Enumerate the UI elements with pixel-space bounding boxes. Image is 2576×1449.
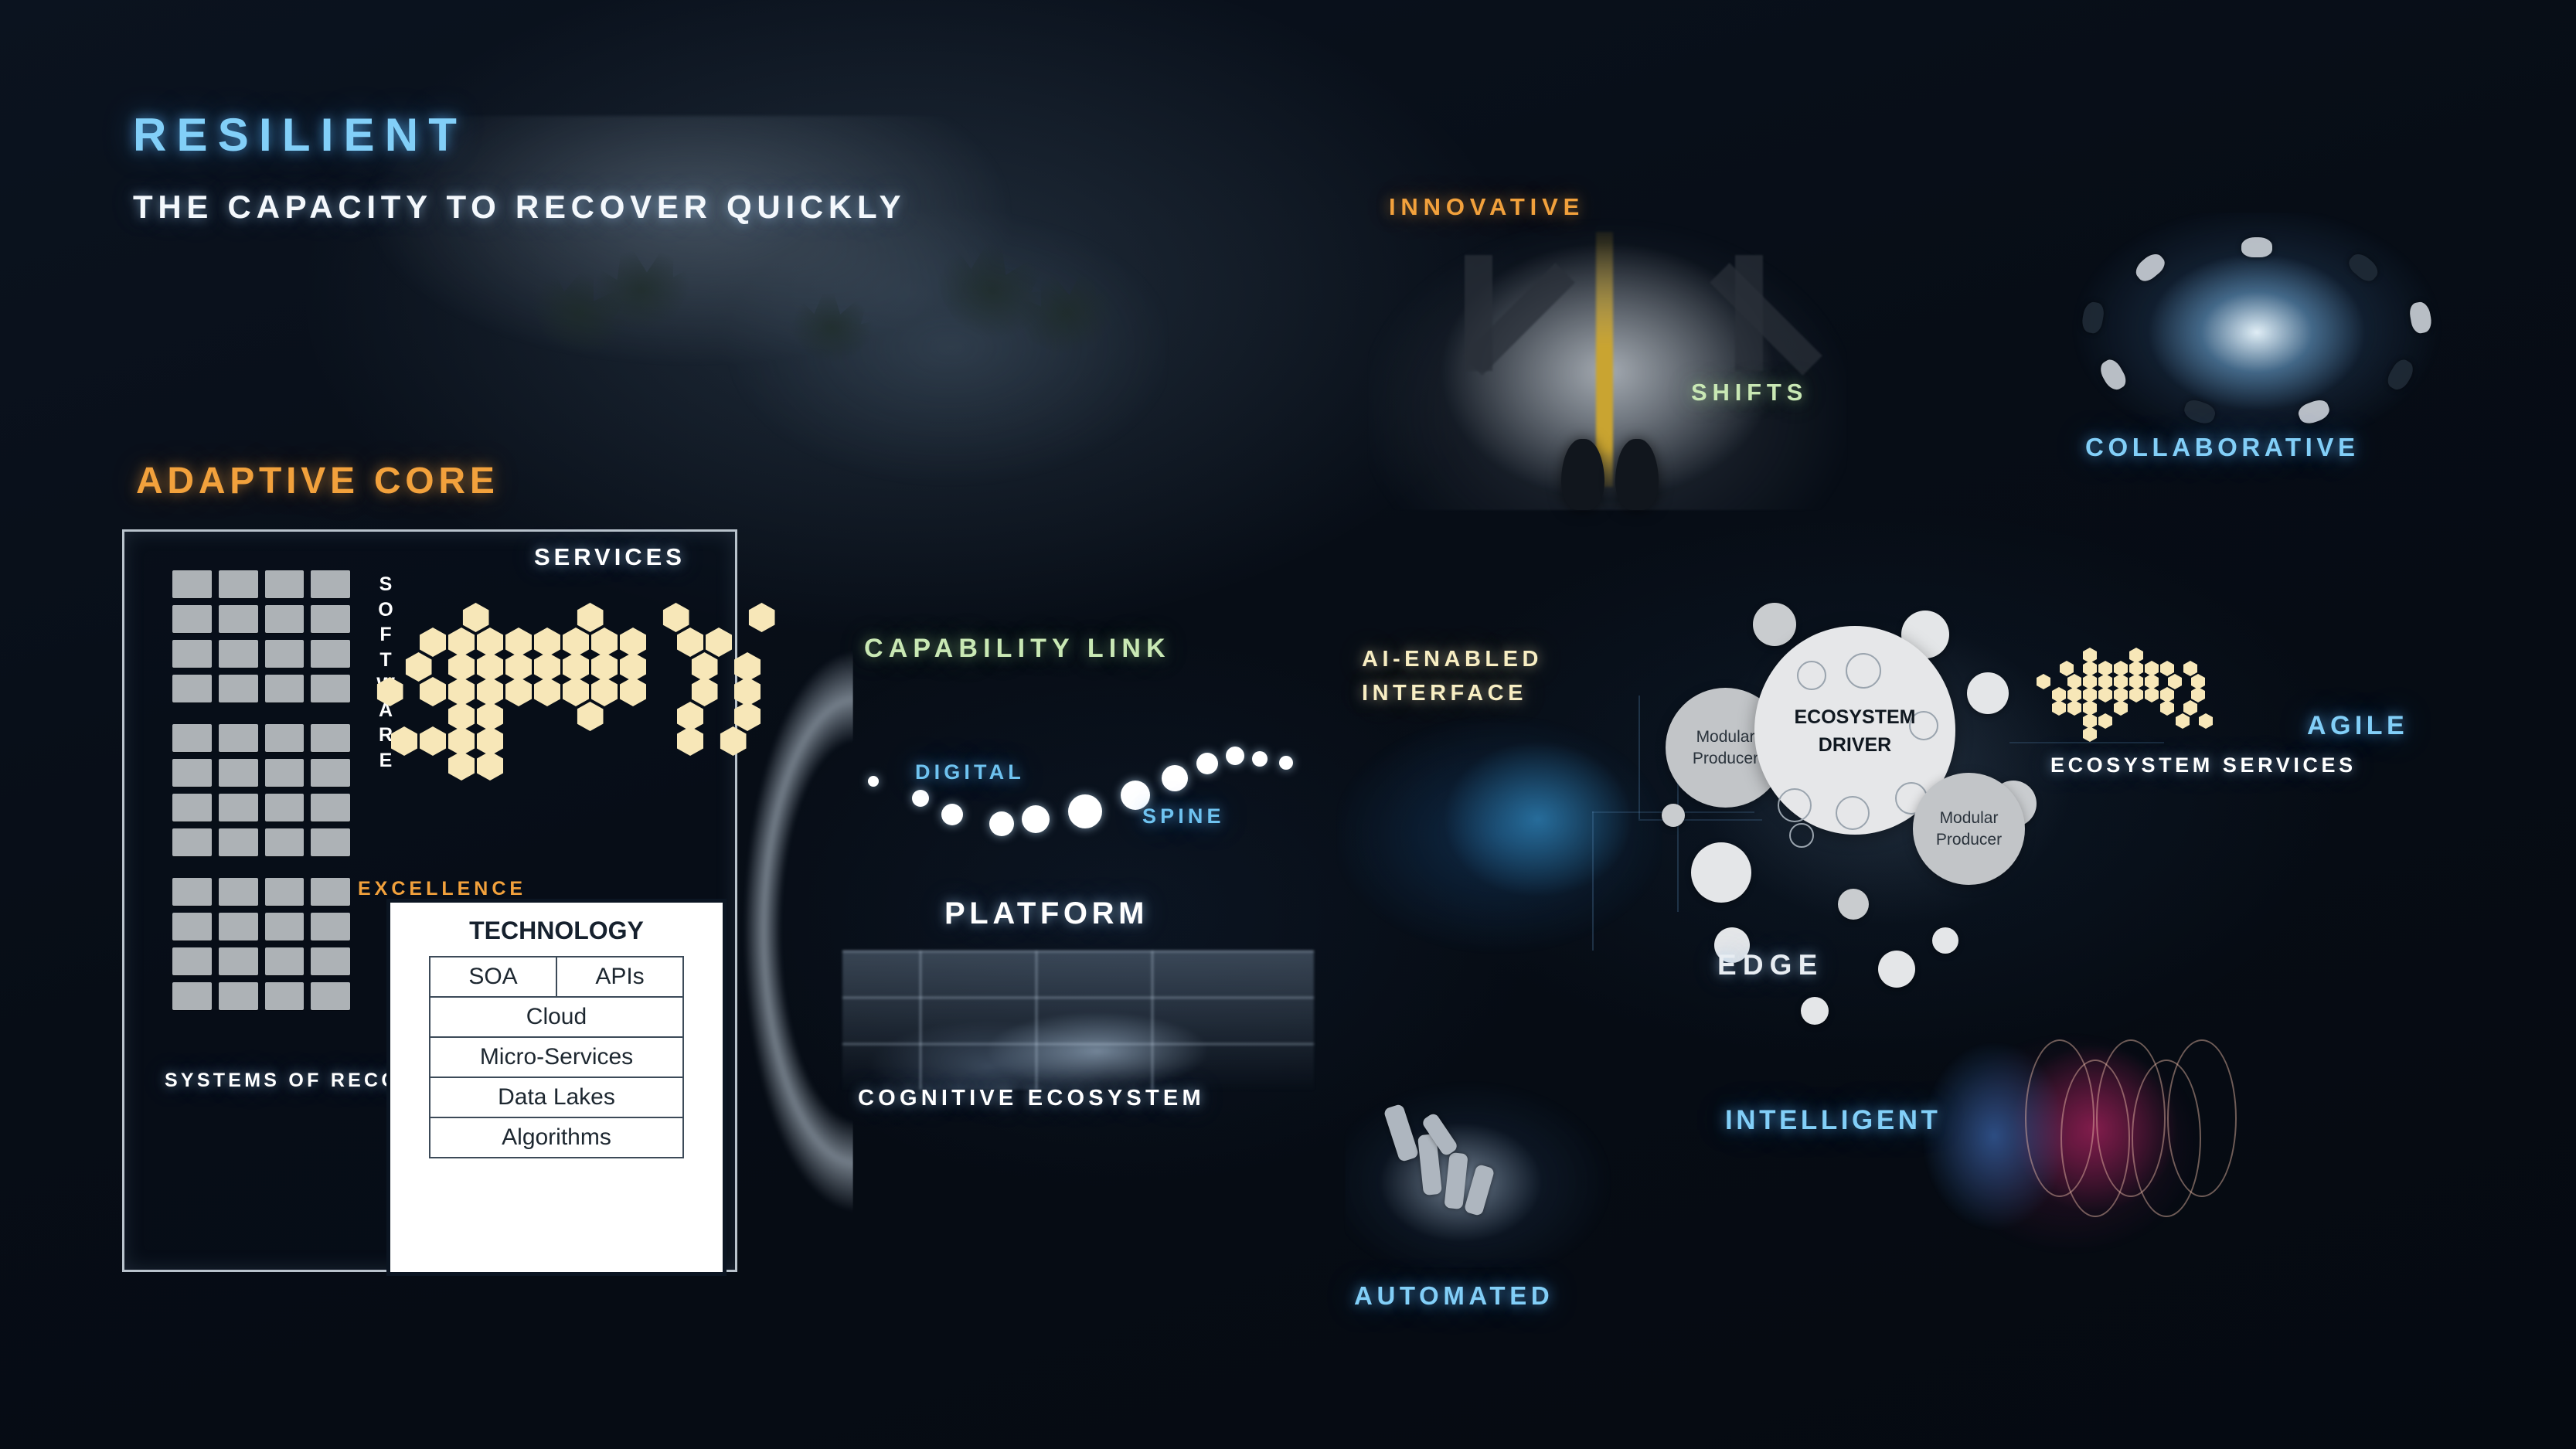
technology-cell[interactable]: SOA [430,957,556,997]
building-block [265,570,305,598]
technology-row: Data Lakes [430,1077,683,1117]
platform-gridline-v [920,951,921,1090]
driver-inner-circle [1778,788,1812,822]
ecosystem-service-hexagon [2183,661,2197,676]
building-block [219,675,258,702]
service-hexagon [692,677,718,706]
floor-arrow [1465,255,1492,371]
building-block [265,675,305,702]
platform-gridline-h [842,1043,1314,1045]
service-hexagon [463,603,489,632]
service-hexagon [534,677,560,706]
service-hexagon [620,677,646,706]
edge-bubble [1878,951,1915,988]
technology-cell[interactable]: APIs [556,957,683,997]
adaptive-core-heading: ADAPTIVE CORE [136,460,499,502]
systems-of-record-label: SYSTEMS OF RECORD [165,1066,358,1094]
building-block [311,947,350,975]
ecosystem-service-hexagon [2183,700,2197,716]
edge-label: EDGE [1717,949,1823,981]
ecosystem-service-hexagon [2160,700,2174,716]
ai-enabled-interface-label: AI-ENABLED INTERFACE [1362,643,1543,710]
driver-inner-circle [1797,661,1826,690]
building-block [265,878,305,906]
ai-label-line1: AI-ENABLED [1362,643,1543,677]
ecosystem-service-hexagon [2199,713,2213,729]
service-hexagon [663,603,689,632]
palm-frond [563,221,720,359]
building-block [219,605,258,633]
spine-dot [941,804,963,825]
building-block [172,794,212,821]
ecosystem-service-hexagon [2129,687,2143,702]
building-block [311,675,350,702]
building-block [311,878,350,906]
palm-frond [898,207,1086,375]
building-block [219,724,258,752]
building-block [219,794,258,821]
building-block [265,724,305,752]
ecosystem-service-hexagon [2145,687,2159,702]
building-block [265,605,305,633]
circuit-trace-h [1638,819,1762,821]
building-block [219,913,258,940]
ecosystem-service-hexagon [2098,687,2112,702]
palm-frond [982,236,1151,389]
building-block [219,640,258,668]
platform-gridline-h [842,951,1314,952]
ecosystem-service-hexagon [2052,700,2066,716]
building-block [265,759,305,787]
spine-dot [912,790,929,807]
technology-cell[interactable]: Cloud [430,997,683,1037]
spine-dot [1022,805,1050,833]
technology-row: Micro-Services [430,1037,683,1077]
modular-producer-right: Modular Producer [1913,773,2025,885]
service-hexagon [420,726,446,756]
circuit-trace-v [1592,811,1594,951]
technology-card-title: TECHNOLOGY [390,917,723,945]
service-hexagon [420,628,446,657]
edge-bubble [1932,927,1958,954]
service-hexagon [677,628,703,657]
edge-bubble [1691,842,1751,903]
building-block [172,675,212,702]
service-hexagon [677,726,703,756]
innovative-label: INNOVATIVE [1389,193,1584,221]
building-block [219,759,258,787]
automated-label: AUTOMATED [1354,1281,1553,1311]
ecosystem-service-hexagon [2160,661,2174,676]
infographic-canvas: RESILIENT THE CAPACITY TO RECOVER QUICKL… [0,0,2576,1449]
services-label: SERVICES [534,543,686,571]
building-block [172,759,212,787]
building-block [265,828,305,856]
platform-gridline-v [1036,951,1037,1090]
building-block [172,947,212,975]
page-title: RESILIENT [133,108,467,162]
service-hexagon [720,726,747,756]
service-hexagon [406,652,432,682]
service-hexagon [563,677,589,706]
technology-cell[interactable]: Data Lakes [430,1077,683,1117]
building-block [172,640,212,668]
service-hexagon [577,603,604,632]
service-hexagon [420,677,446,706]
ai-brain-graphic [1337,696,1662,966]
service-hexagon [448,751,475,781]
page-subtitle: THE CAPACITY TO RECOVER QUICKLY [133,189,906,226]
spine-label: SPINE [1142,804,1225,828]
building-block [311,794,350,821]
driver-inner-circle [1836,796,1870,830]
driver-label-line1: ECOSYSTEM [1770,703,1940,731]
building-block [311,605,350,633]
dna-helix-arc [2167,1039,2237,1197]
technology-row: Cloud [430,997,683,1037]
spine-dot [1279,756,1293,770]
building-block [311,640,350,668]
spine-dot [1226,747,1244,765]
building-block [172,570,212,598]
modular-producer-right-label: Modular Producer [1913,808,2025,850]
ecosystem-services-hexagons [2037,648,2214,756]
building-block [265,982,305,1010]
service-hexagon [734,702,761,731]
platform-floor-grid [842,951,1314,1090]
ecosystem-service-hexagon [2037,674,2050,689]
building-block [311,724,350,752]
edge-bubble [1662,804,1685,827]
shifts-label: SHIFTS [1691,379,1808,406]
technology-row: Algorithms [430,1117,683,1158]
services-hexagon-cluster [391,578,716,779]
building-block [265,640,305,668]
building-block [219,828,258,856]
ecosystem-service-hexagon [2098,713,2112,729]
shoe-left [1561,439,1604,510]
intelligent-label: INTELLIGENT [1725,1105,1941,1136]
building-block [172,724,212,752]
service-hexagon [505,677,532,706]
palm-frond [769,274,896,382]
edge-bubble [1753,603,1796,646]
building-block [311,570,350,598]
building-block [219,570,258,598]
spine-dot [1196,753,1218,774]
circuit-trace-v [1638,696,1640,819]
building-block [311,982,350,1010]
edge-bubble [1838,889,1869,920]
technology-table: SOAAPIsCloudMicro-ServicesData LakesAlgo… [429,956,684,1158]
service-hexagon [749,603,775,632]
building-block [172,605,212,633]
ecosystem-service-hexagon [2114,700,2128,716]
driver-inner-circle [1789,823,1814,848]
driver-inner-circle [1846,653,1881,689]
platform-label: PLATFORM [944,896,1148,931]
floor-arrow [1735,255,1763,371]
building-block [219,947,258,975]
spine-dot [1162,765,1188,791]
service-hexagon [577,702,604,731]
spine-dot [989,811,1014,836]
building-block [172,828,212,856]
agile-label: AGILE [2307,711,2408,741]
spine-dot [868,776,879,787]
crescent-divider [734,626,982,1236]
edge-bubble [1801,997,1829,1025]
building-block [265,794,305,821]
shoe-right [1615,439,1659,510]
building-block [172,913,212,940]
building-block [172,982,212,1010]
service-hexagon [591,677,618,706]
skydiver [2241,237,2272,257]
spine-dot [1252,751,1268,767]
capability-link-label: CAPABILITY LINK [864,634,1171,664]
excellence-label: EXCELLENCE [358,878,526,900]
ecosystem-services-label: ECOSYSTEM SERVICES [2050,753,2357,777]
ecosystem-service-hexagon [2168,674,2182,689]
floor-yellow-line [1596,232,1613,487]
building-block [172,878,212,906]
ecosystem-service-hexagon [2191,687,2205,702]
building-block [265,947,305,975]
building-block [311,828,350,856]
platform-gridline-h [842,997,1314,998]
ecosystem-driver-label: ECOSYSTEM DRIVER [1770,703,1940,760]
collaborative-label: COLLABORATIVE [2085,433,2360,462]
ecosystem-service-hexagon [2176,713,2190,729]
technology-row: SOAAPIs [430,957,683,997]
service-hexagon [391,726,417,756]
spine-dot [1068,794,1102,828]
ecosystem-service-hexagon [2083,726,2097,742]
grid-gap [172,709,350,717]
service-hexagon [706,628,732,657]
technology-cell[interactable]: Micro-Services [430,1037,683,1077]
building-block [219,982,258,1010]
grid-gap [172,863,350,871]
cognitive-ecosystem-label: COGNITIVE ECOSYSTEM [858,1086,1205,1111]
palm-frond [493,233,665,393]
technology-card: TECHNOLOGY SOAAPIsCloudMicro-ServicesDat… [386,899,727,1276]
technology-cell[interactable]: Algorithms [430,1117,683,1158]
systems-of-record-grid [172,570,350,1034]
service-hexagon [477,751,503,781]
building-block [219,878,258,906]
digital-label: DIGITAL [915,760,1025,784]
platform-gridline-v [1152,951,1153,1090]
building-block [311,913,350,940]
ecosystem-service-hexagon [2067,700,2081,716]
edge-bubble [1967,672,2009,714]
building-block [311,759,350,787]
driver-label-line2: DRIVER [1770,731,1940,759]
ai-label-line2: INTERFACE [1362,677,1543,711]
ecosystem-service-hexagon [2060,661,2074,676]
building-block [265,913,305,940]
